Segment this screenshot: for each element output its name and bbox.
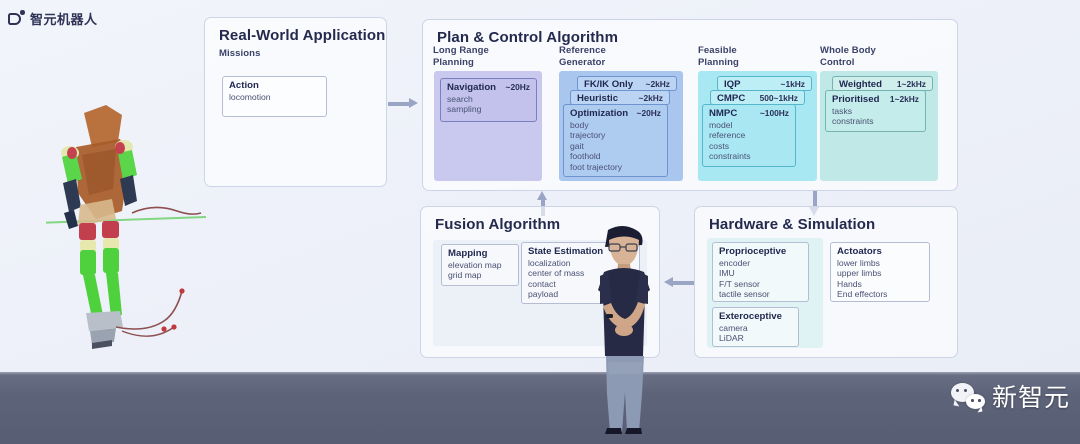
- card-heuristic[interactable]: Heuristic ~2kHz: [570, 90, 670, 105]
- card-exteroceptive-name: Exteroceptive: [719, 311, 782, 322]
- card-navigation-item-0: search: [447, 94, 530, 104]
- card-optimization-name: Optimization: [570, 108, 628, 119]
- card-fk-ik-only-freq: ~2kHz: [646, 79, 670, 89]
- fusion-algorithm-title: Fusion Algorithm: [435, 216, 560, 233]
- card-navigation-item-1: sampling: [447, 104, 530, 114]
- card-action-item-0: locomotion: [229, 92, 320, 102]
- card-weighted-freq: 1~2kHz: [897, 79, 926, 89]
- card-proprioceptive-item-0: encoder: [719, 258, 802, 268]
- humanoid-robot-render: [46, 95, 206, 350]
- card-action-name: Action: [229, 80, 259, 91]
- card-optimization-item-0: body: [570, 120, 661, 130]
- stage-floor: [0, 372, 1080, 444]
- card-proprioceptive-name: Proprioceptive: [719, 246, 786, 257]
- card-nmpc-item-3: constraints: [709, 151, 789, 161]
- card-nmpc-item-2: costs: [709, 141, 789, 151]
- subhead-feasible-planning: Feasible Planning: [698, 45, 739, 68]
- card-optimization-item-2: gait: [570, 141, 661, 151]
- card-exteroceptive-item-1: LiDAR: [719, 333, 792, 343]
- card-nmpc-item-1: reference: [709, 130, 789, 140]
- brand-logo-text: 智元机器人: [30, 9, 98, 28]
- card-optimization[interactable]: Optimization ~20Hz body trajectory gait …: [563, 104, 668, 177]
- card-cmpc-name: CMPC: [717, 93, 745, 104]
- subhead-reference-generator: Reference Generator: [559, 45, 606, 68]
- watermark-text: 新智元: [992, 378, 1070, 414]
- card-mapping-item-1: grid map: [448, 270, 512, 280]
- card-navigation[interactable]: Navigation ~20Hz search sampling: [440, 78, 537, 122]
- card-actoators-item-1: upper limbs: [837, 268, 923, 278]
- card-proprioceptive-item-3: tactile sensor: [719, 289, 802, 299]
- card-proprioceptive-item-2: F/T sensor: [719, 279, 802, 289]
- hardware-simulation-title: Hardware & Simulation: [709, 216, 875, 233]
- card-iqp-name: IQP: [724, 79, 741, 90]
- card-optimization-item-1: trajectory: [570, 130, 661, 140]
- card-nmpc[interactable]: NMPC ~100Hz model reference costs constr…: [702, 104, 796, 167]
- card-fk-ik-only-name: FK/IK Only: [584, 79, 633, 90]
- card-action[interactable]: Action locomotion: [222, 76, 327, 117]
- brand-logo: 智元机器人: [8, 9, 98, 28]
- card-exteroceptive-item-0: camera: [719, 323, 792, 333]
- card-actoators-item-0: lower limbs: [837, 258, 923, 268]
- card-proprioceptive-item-1: IMU: [719, 268, 802, 278]
- card-cmpc[interactable]: CMPC 500~1kHz: [710, 90, 805, 105]
- agibot-logo-icon: [8, 10, 25, 27]
- presenter-person: [578, 222, 670, 434]
- wechat-watermark: 新智元: [951, 378, 1070, 414]
- card-navigation-name: Navigation: [447, 82, 496, 93]
- card-heuristic-freq: ~2kHz: [639, 93, 663, 103]
- card-proprioceptive[interactable]: Proprioceptive encoder IMU F/T sensor ta…: [712, 242, 809, 302]
- card-prioritised-freq: 1~2kHz: [890, 94, 919, 104]
- card-fk-ik-only[interactable]: FK/IK Only ~2kHz: [577, 76, 677, 91]
- subhead-long-range-planning: Long Range Planning: [433, 45, 489, 68]
- card-iqp[interactable]: IQP ~1kHz: [717, 76, 812, 91]
- card-actoators[interactable]: Actoators lower limbs upper limbs Hands …: [830, 242, 930, 302]
- card-prioritised-name: Prioritised: [832, 94, 879, 105]
- card-actoators-name: Actoators: [837, 246, 882, 257]
- card-prioritised[interactable]: Prioritised 1~2kHz tasks constraints: [825, 90, 926, 132]
- card-weighted[interactable]: Weighted 1~2kHz: [832, 76, 933, 91]
- card-prioritised-item-1: constraints: [832, 116, 919, 126]
- card-mapping-name: Mapping: [448, 248, 487, 259]
- wechat-icon: [951, 383, 985, 409]
- arrow-realworld-to-plan: [388, 98, 420, 109]
- card-navigation-freq: ~20Hz: [506, 82, 530, 92]
- real-world-application-panel: Real-World Application Missions Action l…: [204, 17, 387, 187]
- card-prioritised-item-0: tasks: [832, 106, 919, 116]
- card-nmpc-freq: ~100Hz: [760, 108, 789, 118]
- card-mapping-item-0: elevation map: [448, 260, 512, 270]
- card-mapping[interactable]: Mapping elevation map grid map: [441, 244, 519, 286]
- real-world-application-title: Real-World Application: [219, 27, 385, 44]
- card-heuristic-name: Heuristic: [577, 93, 618, 104]
- card-nmpc-name: NMPC: [709, 108, 737, 119]
- card-exteroceptive[interactable]: Exteroceptive camera LiDAR: [712, 307, 799, 347]
- card-actoators-item-3: End effectors: [837, 289, 923, 299]
- card-actoators-item-2: Hands: [837, 279, 923, 289]
- card-optimization-freq: ~20Hz: [637, 108, 661, 118]
- real-world-missions-subhead: Missions: [219, 48, 260, 60]
- card-cmpc-freq: 500~1kHz: [760, 93, 798, 103]
- plan-control-algorithm-title: Plan & Control Algorithm: [437, 29, 618, 46]
- subhead-whole-body-control: Whole Body Control: [820, 45, 876, 68]
- card-weighted-name: Weighted: [839, 79, 882, 90]
- card-optimization-item-3: foothold: [570, 151, 661, 161]
- card-optimization-item-4: foot trajectory: [570, 162, 661, 172]
- card-nmpc-item-0: model: [709, 120, 789, 130]
- card-iqp-freq: ~1kHz: [781, 79, 805, 89]
